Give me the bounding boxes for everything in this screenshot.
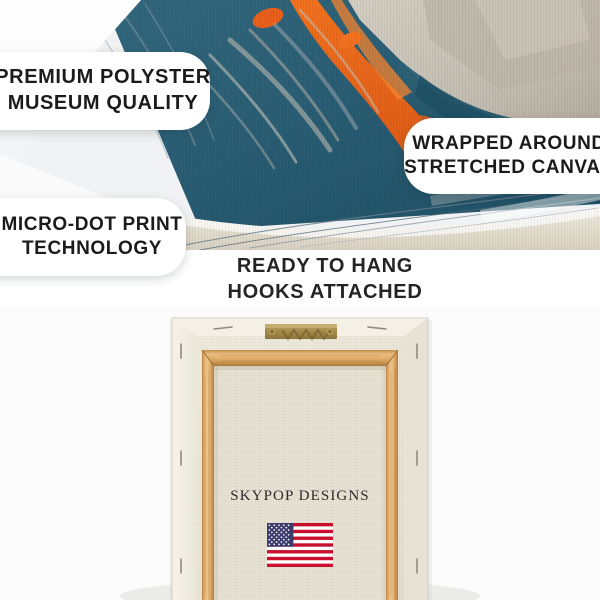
ready-to-hang-heading: READY TO HANG HOOKS ATTACHED: [180, 253, 470, 306]
badge-line-2: TECHNOLOGY: [22, 237, 162, 261]
heading-line-1: READY TO HANG: [180, 253, 470, 279]
wrapped-around-badge: WRAPPED AROUND STRETCHED CANVAS: [404, 118, 600, 194]
badge-line-1: PREMIUM POLYSTER: [0, 65, 211, 91]
micro-dot-print-badge: MICRO-DOT PRINT TECHNOLOGY: [0, 198, 186, 276]
brand-label: SKYPOP DESIGNS: [210, 488, 390, 505]
badge-line-2: STRETCHED CANVAS: [404, 156, 600, 180]
heading-line-2: HOOKS ATTACHED: [180, 279, 470, 305]
badge-line-1: WRAPPED AROUND: [412, 132, 600, 156]
usa-flag: [267, 523, 333, 567]
badge-line-1: MICRO-DOT PRINT: [1, 213, 182, 237]
sawtooth-hanger: [265, 324, 337, 339]
product-marketing-image: PREMIUM POLYSTER MUSEUM QUALITY WRAPPED …: [0, 0, 600, 600]
usa-flag-icon: [267, 523, 333, 567]
badge-line-2: MUSEUM QUALITY: [8, 91, 199, 117]
premium-polyster-badge: PREMIUM POLYSTER MUSEUM QUALITY: [0, 52, 210, 130]
